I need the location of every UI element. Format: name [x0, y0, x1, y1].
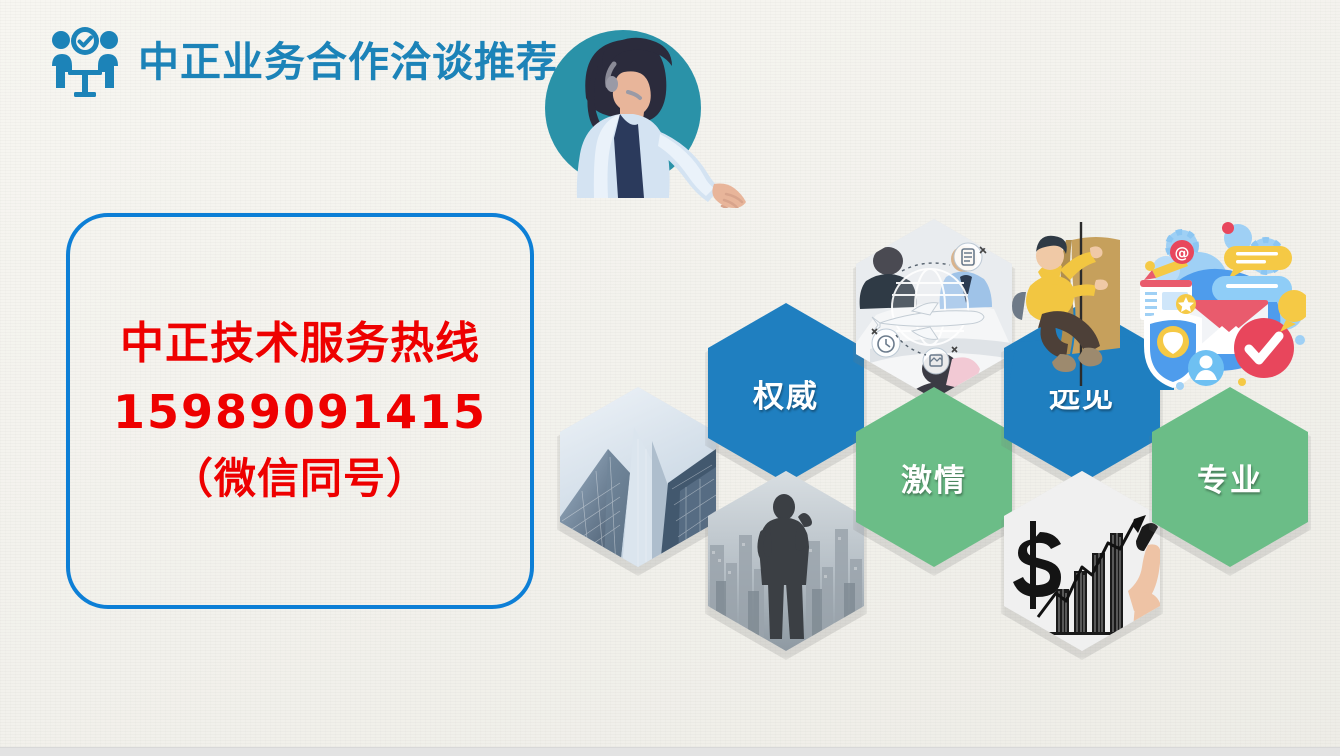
hotline-panel: 中正技术服务热线 15989091415 （微信同号） — [66, 213, 534, 609]
hex-label-quanwei: 权威 — [753, 371, 819, 416]
slide-canvas: 中正业务合作洽谈推荐 — [0, 0, 1340, 756]
hex-label-zhuanye: 专业 — [1197, 455, 1263, 500]
bottom-strip — [0, 747, 1340, 756]
hotline-note: （微信同号） — [171, 455, 429, 503]
customer-service-agent-illustration — [528, 8, 748, 208]
svg-text:@: @ — [1175, 244, 1190, 262]
hotline-number[interactable]: 15989091415 — [113, 386, 487, 439]
hotline-title: 中正技术服务热线 — [120, 319, 480, 370]
page-title: 中正业务合作洽谈推荐 — [138, 42, 558, 83]
email-chat-shield-check-icons-illustration: @ — [1138, 222, 1306, 390]
hex-label-jiqing: 激情 — [901, 455, 967, 500]
header: 中正业务合作洽谈推荐 — [48, 26, 558, 98]
team-meeting-check-icon — [48, 26, 122, 98]
